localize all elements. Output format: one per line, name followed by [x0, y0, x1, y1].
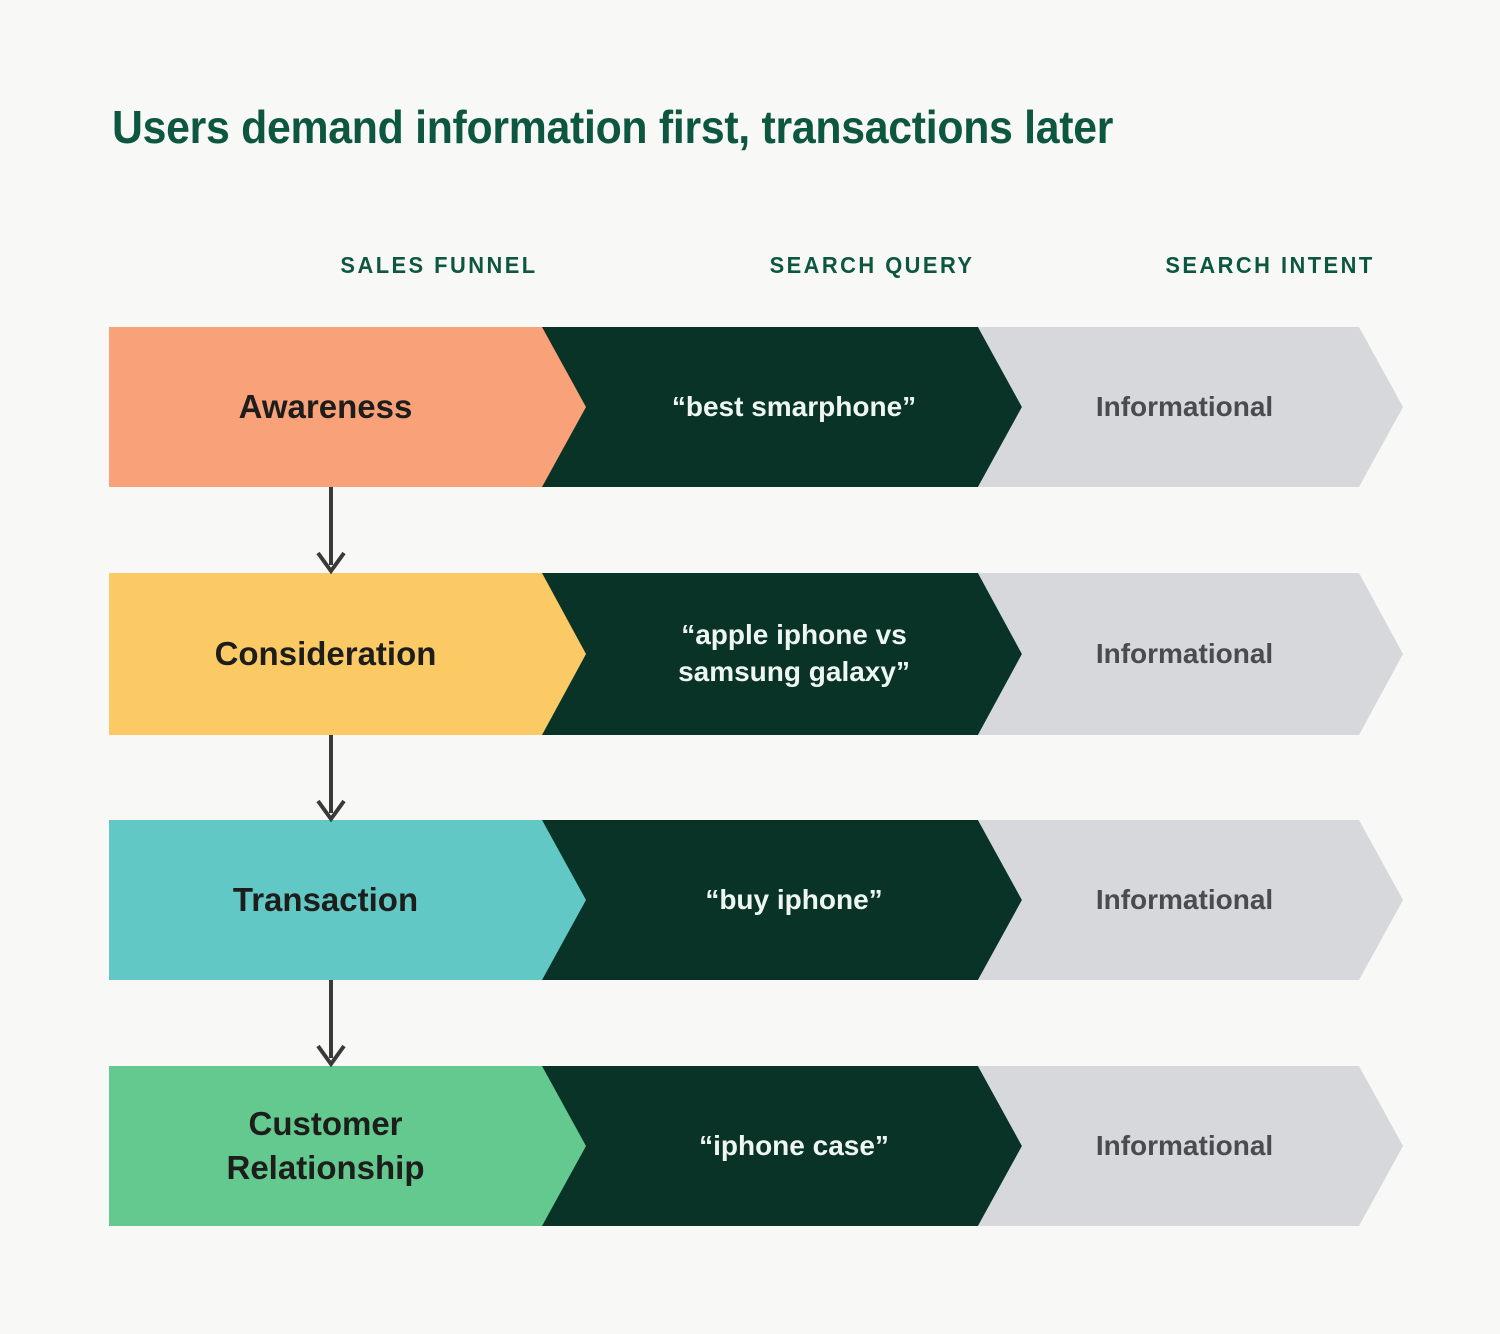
query-chevron-awareness[interactable]: “best smarphone”: [542, 327, 1022, 487]
funnel-row: Transaction “buy iphone” Informational: [0, 820, 1500, 980]
query-label: “apple iphone vs samsung galaxy”: [678, 617, 910, 691]
column-header-sales-funnel: SALES FUNNEL: [202, 252, 677, 279]
query-chevron-consideration[interactable]: “apple iphone vs samsung galaxy”: [542, 573, 1022, 735]
query-label: “best smarphone”: [672, 389, 916, 426]
arrow-down-icon: [308, 487, 354, 579]
stage-label: Transaction: [233, 878, 418, 922]
stage-chevron-transaction[interactable]: Transaction: [109, 820, 590, 980]
intent-label: Informational: [1096, 636, 1273, 672]
query-chevron-transaction[interactable]: “buy iphone”: [542, 820, 1022, 980]
query-label: “iphone case”: [699, 1128, 889, 1165]
intent-label: Informational: [1096, 882, 1273, 918]
column-header-search-intent: SEARCH INTENT: [1033, 252, 1500, 279]
intent-chevron-awareness[interactable]: Informational: [978, 327, 1403, 487]
stage-chevron-customer-relationship[interactable]: Customer Relationship: [109, 1066, 590, 1226]
stage-chevron-consideration[interactable]: Consideration: [109, 573, 590, 735]
stage-label: Customer Relationship: [226, 1102, 424, 1190]
arrow-down-icon: [308, 980, 354, 1072]
stage-label: Awareness: [239, 385, 413, 429]
intent-label: Informational: [1096, 1128, 1273, 1164]
stage-chevron-awareness[interactable]: Awareness: [109, 327, 590, 487]
intent-chevron-consideration[interactable]: Informational: [978, 573, 1403, 735]
intent-chevron-customer-relationship[interactable]: Informational: [978, 1066, 1403, 1226]
connector-arrow-down: [308, 980, 354, 1072]
connector-arrow-down: [308, 487, 354, 579]
arrow-down-icon: [308, 735, 354, 827]
query-chevron-customer-relationship[interactable]: “iphone case”: [542, 1066, 1022, 1226]
funnel-row: Consideration “apple iphone vs samsung g…: [0, 573, 1500, 735]
column-headers: SALES FUNNEL SEARCH QUERY SEARCH INTENT: [109, 252, 1403, 286]
intent-chevron-transaction[interactable]: Informational: [978, 820, 1403, 980]
connector-arrow-down: [308, 735, 354, 827]
page-title: Users demand information first, transact…: [112, 100, 1113, 154]
funnel-row: Awareness “best smarphone” Informational: [0, 327, 1500, 487]
intent-label: Informational: [1096, 389, 1273, 425]
stage-label: Consideration: [215, 632, 437, 676]
funnel-row: Customer Relationship “iphone case” Info…: [0, 1066, 1500, 1226]
query-label: “buy iphone”: [705, 882, 882, 919]
